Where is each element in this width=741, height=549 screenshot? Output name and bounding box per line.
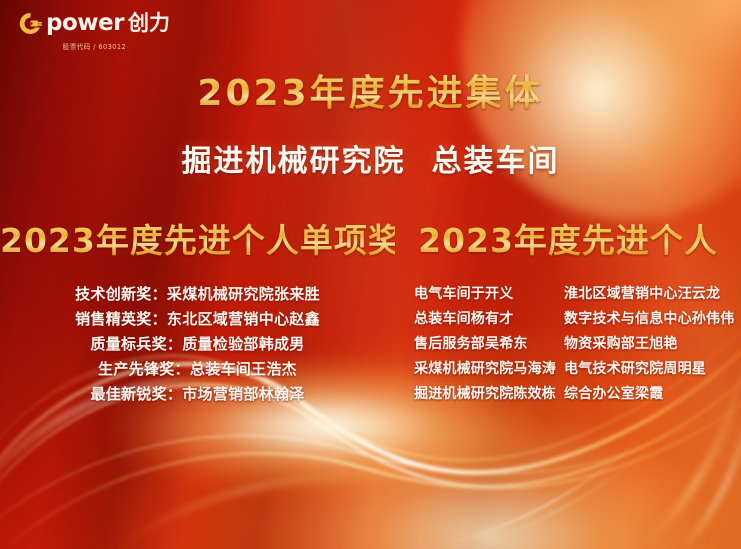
list-item: 质量标兵奖：质量检验部韩成男 [90,332,304,357]
honoree-name: 售后服务部吴希东 [414,332,564,357]
list-item: 销售精英奖：东北区域营销中心赵鑫 [75,307,320,332]
logo-wordmark-cn: 创力 [128,13,170,34]
left-award-list: 技术创新奖：采煤机械研究院张来胜 销售精英奖：东北区域营销中心赵鑫 质量标兵奖：… [0,282,395,407]
collective-name-1: 掘进机械研究院 [182,144,406,179]
section-headings: 2023年度先进个人单项奖 2023年度先进个人 [0,214,741,262]
award-poster: power 创力 股票代码 / 603012 2023年度先进集体 掘进机械研究… [0,0,741,549]
page-title: 2023年度先进集体 [0,64,741,116]
list-item: 电气车间于开义 淮北区域营销中心汪云龙 [414,282,722,307]
list-item: 售后服务部吴希东 物资采购部王旭艳 [414,332,722,357]
logo-lockup: power 创力 [18,11,170,36]
honoree-name: 采煤机械研究院马海涛 [414,357,564,382]
list-item: 技术创新奖：采煤机械研究院张来胜 [75,282,320,307]
list-item: 掘进机械研究院陈效栋 综合办公室梁霞 [414,382,722,407]
honoree-name: 总装车间杨有才 [414,307,564,332]
company-logo: power 创力 股票代码 / 603012 [18,11,170,52]
logo-wordmark: power [46,12,124,35]
c-plug-logo-icon [18,11,43,36]
honoree-columns: 技术创新奖：采煤机械研究院张来胜 销售精英奖：东北区域营销中心赵鑫 质量标兵奖：… [0,282,741,407]
list-item: 生产先锋奖：总装车间王浩杰 [98,357,297,382]
honoree-name: 物资采购部王旭艳 [564,332,722,357]
honoree-name: 综合办公室梁霞 [564,382,722,407]
honoree-name: 电气技术研究院周明星 [564,357,722,382]
collective-name-2: 总装车间 [432,144,560,179]
right-honoree-list: 电气车间于开义 淮北区域营销中心汪云龙 总装车间杨有才 数字技术与信息中心孙伟伟… [395,282,741,407]
honoree-name: 电气车间于开义 [414,282,564,307]
section-heading-right: 2023年度先进个人 [395,214,741,262]
collective-names: 掘进机械研究院总装车间 [0,136,741,180]
section-heading-left: 2023年度先进个人单项奖 [0,214,395,262]
honoree-name: 掘进机械研究院陈效栋 [414,382,564,407]
list-item: 总装车间杨有才 数字技术与信息中心孙伟伟 [414,307,722,332]
honoree-name: 数字技术与信息中心孙伟伟 [564,307,722,332]
honoree-name: 淮北区域营销中心汪云龙 [564,282,722,307]
stock-code-label: 股票代码 / 603012 [62,42,125,52]
list-item: 最佳新锐奖：市场营销部林翰泽 [90,382,304,407]
list-item: 采煤机械研究院马海涛 电气技术研究院周明星 [414,357,722,382]
